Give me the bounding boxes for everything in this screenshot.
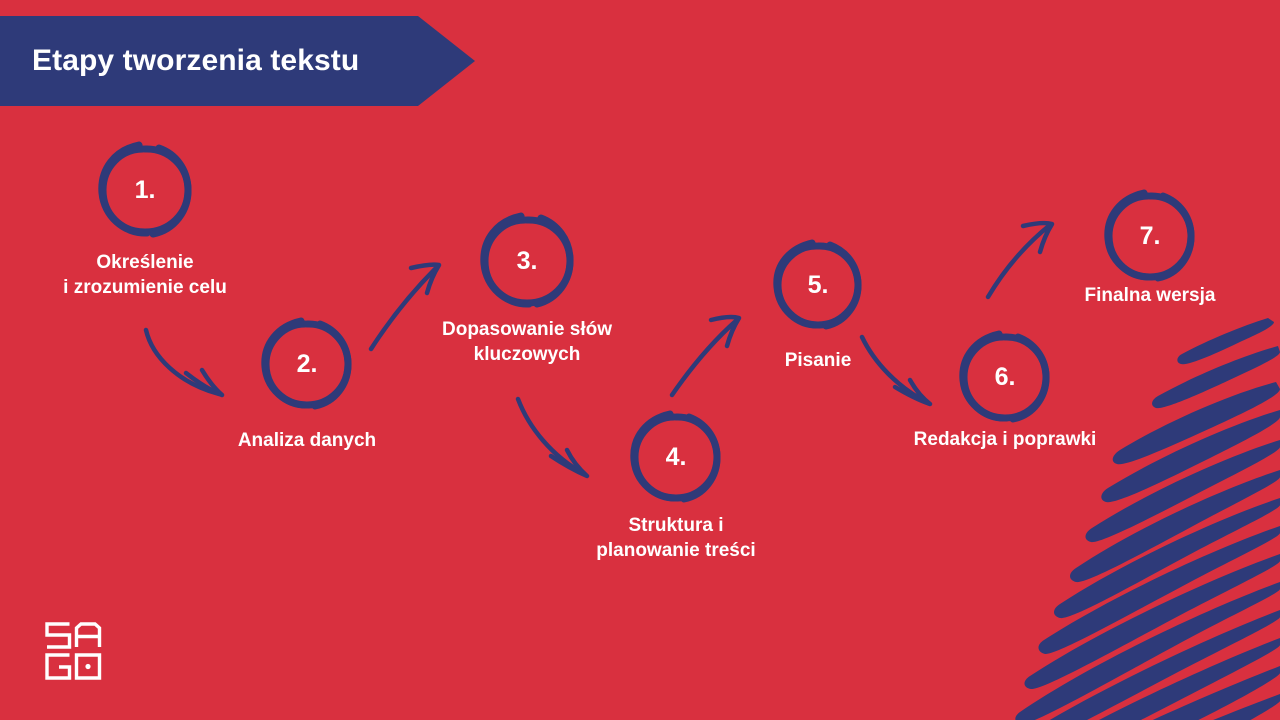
sketch-circle-icon [475, 209, 579, 313]
step-label: Redakcja i poprawki [855, 427, 1155, 452]
page-title: Etapy tworzenia tekstu [32, 16, 432, 106]
slide-canvas: Etapy tworzenia tekstu [0, 0, 1280, 720]
sketch-circle-icon [955, 327, 1055, 427]
step-label: Określenie i zrozumienie celu [0, 250, 295, 301]
step-label: Finalna wersja [1000, 283, 1280, 308]
sketch-circle-icon [626, 407, 726, 507]
sketch-circle-icon [257, 314, 357, 414]
step-label: Pisanie [668, 348, 968, 373]
sago-logo [42, 620, 104, 682]
step-label: Dopasowanie słów kluczowych [377, 317, 677, 368]
step-label: Analiza danych [157, 428, 457, 453]
step-label: Struktura i planowanie treści [526, 513, 826, 564]
sketch-circle-icon [1100, 186, 1200, 286]
sketch-circle-icon [93, 138, 197, 242]
sketch-circle-icon [769, 236, 867, 334]
